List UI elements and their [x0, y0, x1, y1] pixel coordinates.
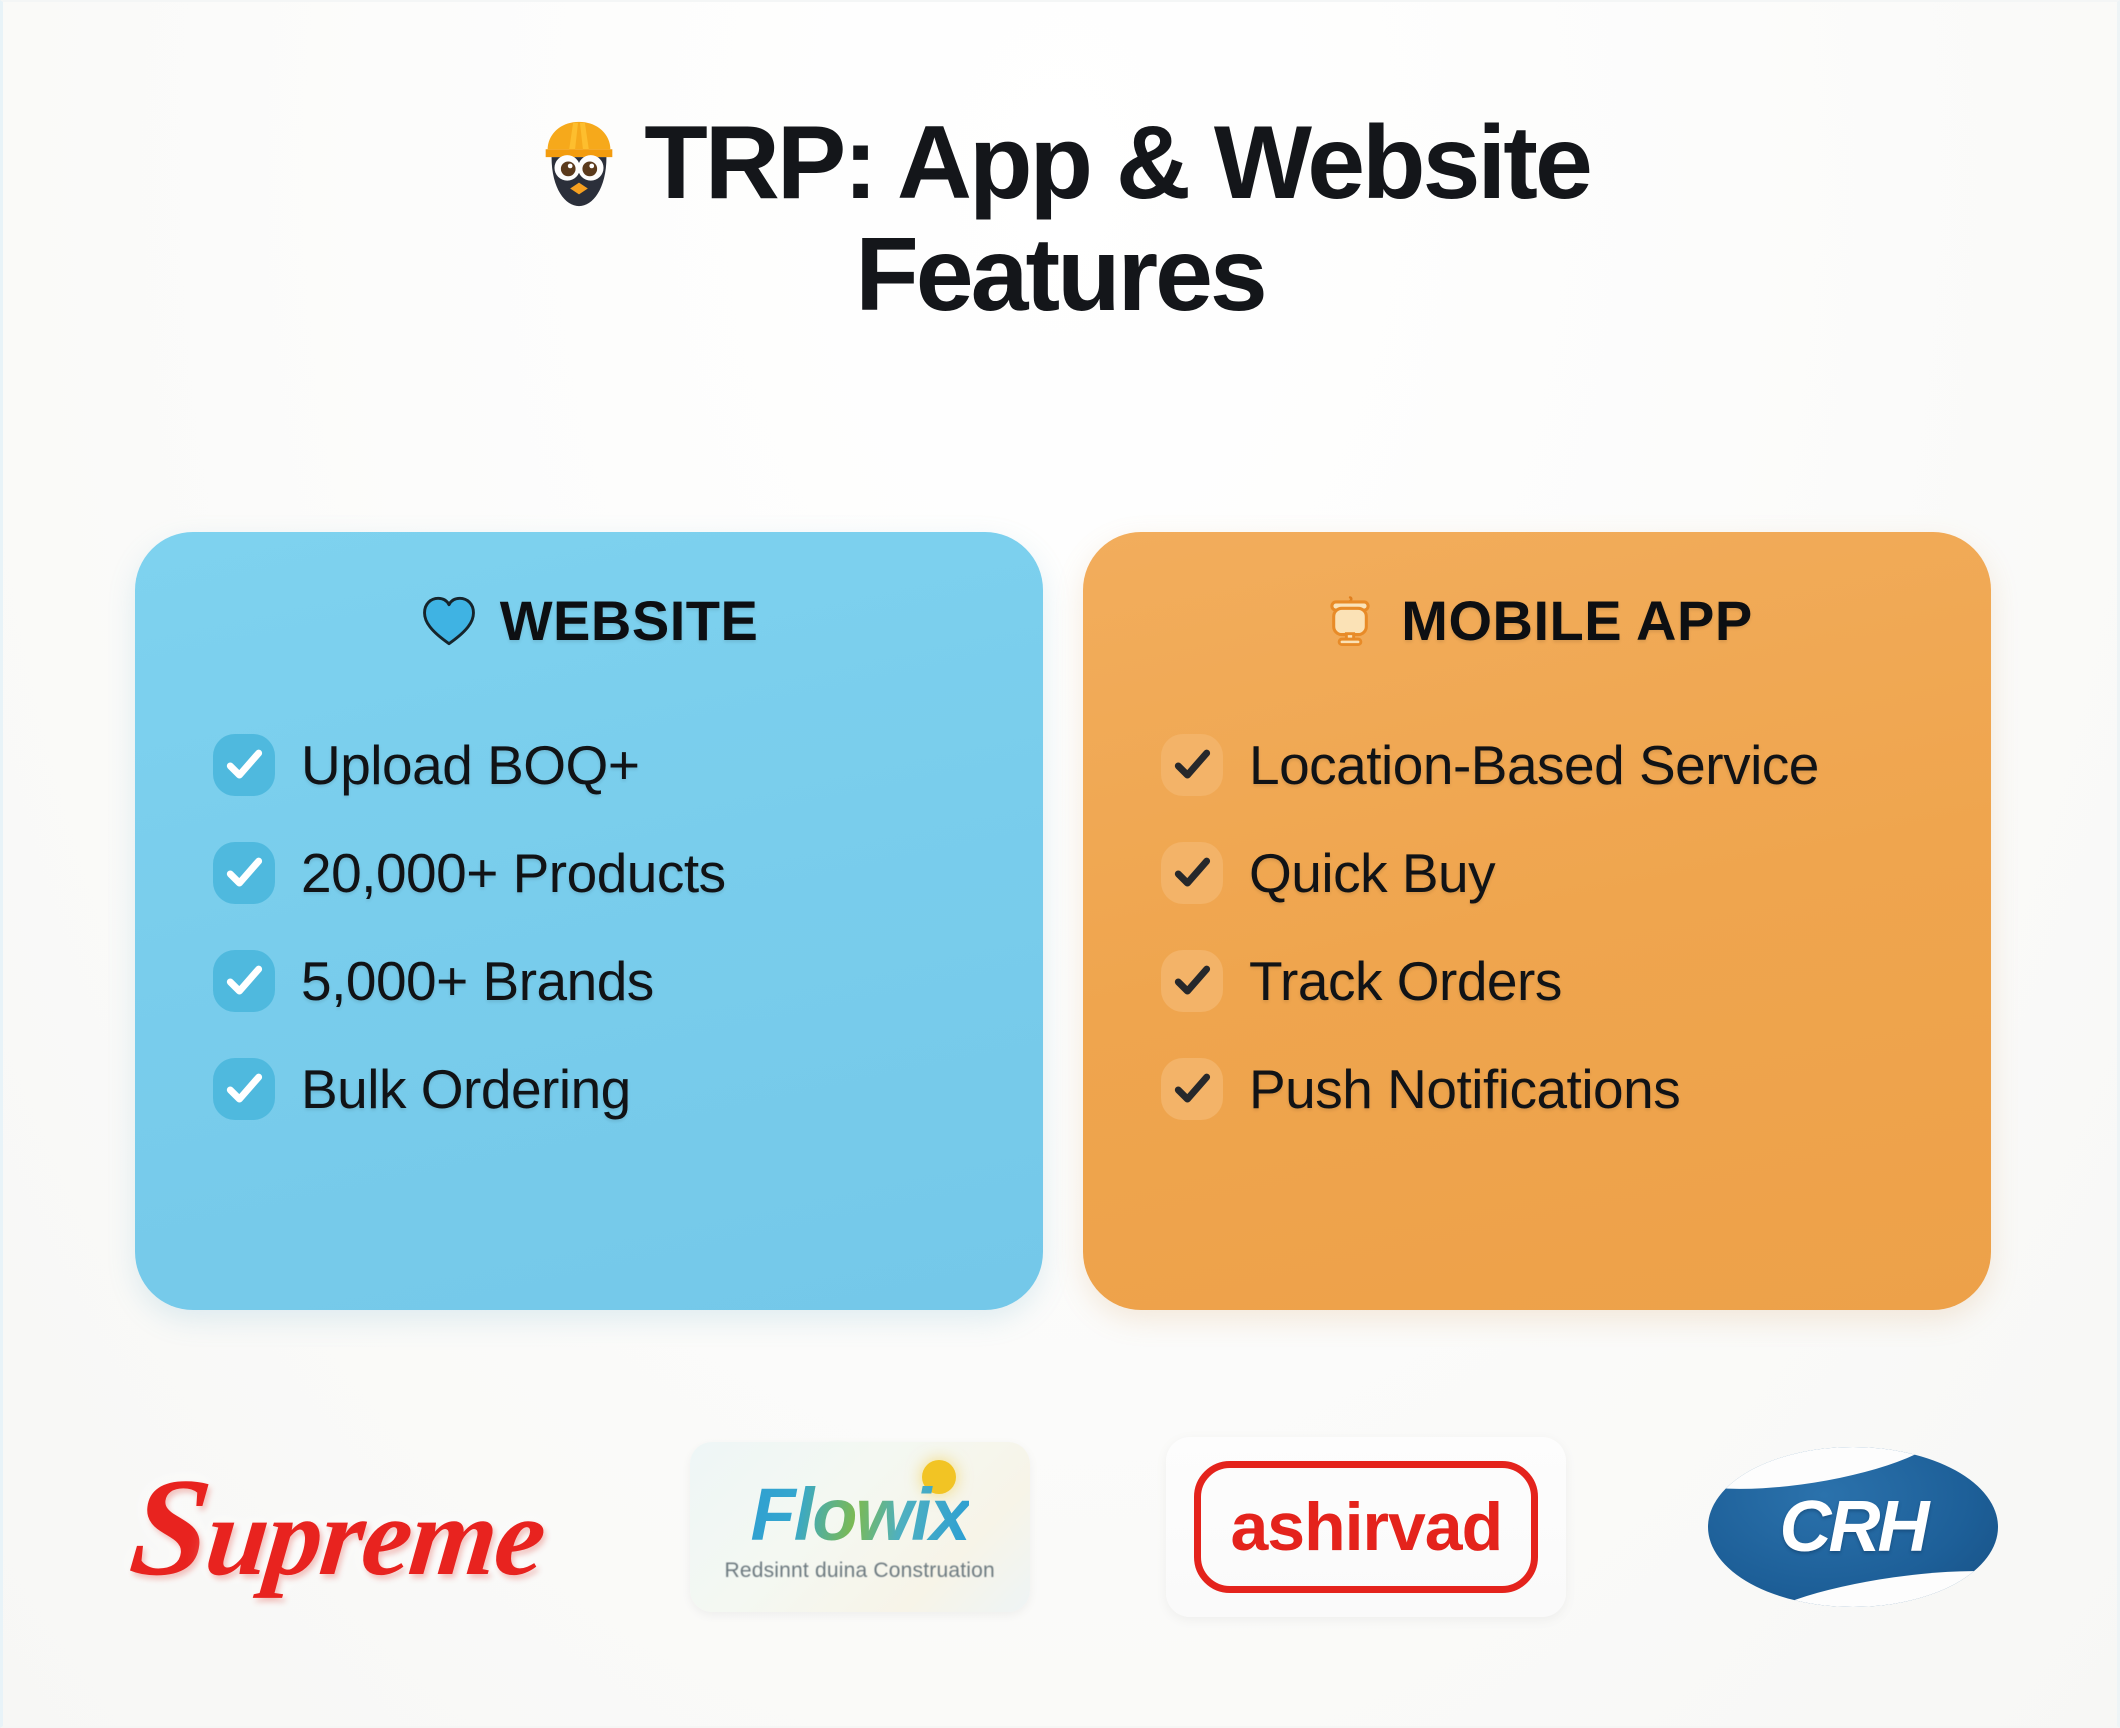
feature-label: Location-Based Service — [1249, 733, 1819, 797]
feature-label: 20,000+ Products — [301, 841, 726, 905]
logo-crh-oval: CRH — [1708, 1447, 1998, 1607]
check-icon — [213, 734, 275, 796]
website-card-header: WEBSITE — [175, 588, 1003, 653]
website-feature-list: Upload BOQ+ 20,000+ Products 5,000+ Bran… — [175, 711, 1003, 1143]
blue-heart-icon — [420, 592, 478, 650]
logo-supreme-text: Supreme — [123, 1447, 552, 1608]
check-icon — [213, 1058, 275, 1120]
check-icon — [1161, 1058, 1223, 1120]
logo-crh-text: CRH — [1779, 1486, 1926, 1568]
page-title: TRP: App & Website Features — [3, 110, 2117, 328]
logo-ashirvad-pill: ashirvad — [1194, 1461, 1538, 1593]
list-item: Location-Based Service — [1161, 711, 1951, 819]
title-line-1-row: TRP: App & Website — [203, 110, 1917, 216]
logo-ashirvad-text: ashirvad — [1230, 1493, 1502, 1561]
list-item: 20,000+ Products — [213, 819, 1003, 927]
title-line-2: Features — [203, 222, 1917, 328]
list-item: Push Notifications — [1161, 1035, 1951, 1143]
website-card: WEBSITE Upload BOQ+ 20,000+ Products — [135, 532, 1043, 1310]
check-icon — [1161, 950, 1223, 1012]
list-item: Track Orders — [1161, 927, 1951, 1035]
logo-ashirvad: ashirvad — [1166, 1437, 1566, 1617]
check-icon — [213, 842, 275, 904]
feature-label: Quick Buy — [1249, 841, 1495, 905]
mobile-device-icon — [1321, 592, 1379, 650]
logo-supreme-rest: upreme — [200, 1475, 549, 1599]
feature-label: Track Orders — [1249, 949, 1562, 1013]
logo-flowix: Flowix Redsinnt duina Construation — [690, 1442, 1030, 1612]
website-card-label: WEBSITE — [500, 588, 759, 653]
mobile-app-feature-list: Location-Based Service Quick Buy Track O… — [1123, 711, 1951, 1143]
list-item: Quick Buy — [1161, 819, 1951, 927]
check-icon — [213, 950, 275, 1012]
infographic-page: TRP: App & Website Features WEBSITE — [0, 0, 2120, 1728]
brand-logo-row: Supreme Flowix Redsinnt duina Construati… — [123, 1412, 2003, 1642]
check-icon — [1161, 842, 1223, 904]
logo-flowix-text: Flowix — [751, 1472, 969, 1557]
list-item: Bulk Ordering — [213, 1035, 1003, 1143]
construction-worker-bird-icon — [530, 114, 628, 212]
logo-flowix-tagline: Redsinnt duina Construation — [724, 1559, 994, 1583]
list-item: Upload BOQ+ — [213, 711, 1003, 819]
title-line-1: TRP: App & Website — [644, 105, 1590, 221]
feature-label: Bulk Ordering — [301, 1057, 631, 1121]
feature-cards: WEBSITE Upload BOQ+ 20,000+ Products — [135, 532, 1991, 1310]
logo-crh: CRH — [1703, 1437, 2003, 1617]
feature-label: 5,000+ Brands — [301, 949, 654, 1013]
mobile-app-card-label: MOBILE APP — [1401, 588, 1752, 653]
mobile-app-card: MOBILE APP Location-Based Service Quick … — [1083, 532, 1991, 1310]
logo-supreme: Supreme — [123, 1432, 553, 1622]
mobile-app-card-header: MOBILE APP — [1123, 588, 1951, 653]
list-item: 5,000+ Brands — [213, 927, 1003, 1035]
feature-label: Upload BOQ+ — [301, 733, 639, 797]
check-icon — [1161, 734, 1223, 796]
feature-label: Push Notifications — [1249, 1057, 1680, 1121]
